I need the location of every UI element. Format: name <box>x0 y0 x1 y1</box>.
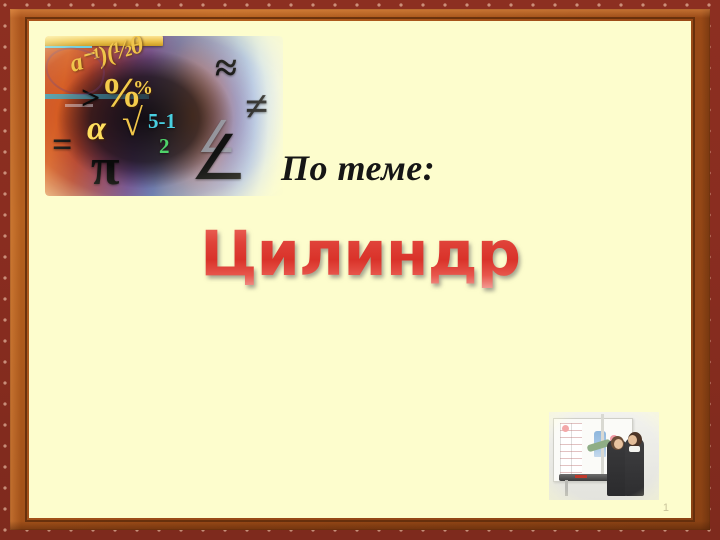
percent-small-icon: % <box>133 78 153 98</box>
student-front-face-shape <box>614 439 623 449</box>
angle-icon: ∠ <box>190 128 248 190</box>
slide-title: Цилиндр <box>29 217 691 290</box>
whiteboard-leg-left-shape <box>565 480 568 496</box>
collage-fraction-numerator: 5-1 <box>148 111 176 132</box>
math-collage-canvas: a⁻¹)(½θ > % % ≈ ≠ = α √ 5-1 2 π ∠ ∠ <box>45 36 283 196</box>
student-back-collar-shape <box>629 446 640 452</box>
whiteboard-red-dot-shape <box>562 425 569 432</box>
math-collage-image: a⁻¹)(½θ > % % ≈ ≠ = α √ 5-1 2 π ∠ ∠ <box>45 36 283 196</box>
square-root-icon: √ <box>122 104 143 142</box>
equals-icon: = <box>52 126 73 162</box>
page-number: 1 <box>663 502 669 514</box>
student-back-face-shape <box>628 435 637 445</box>
collage-fraction-denominator: 2 <box>159 136 170 157</box>
not-equal-icon: ≠ <box>245 86 268 128</box>
classroom-photo <box>541 404 667 508</box>
subject-label: По теме: <box>281 147 435 189</box>
approximately-equal-icon: ≈ <box>215 48 237 88</box>
pi-icon: π <box>91 142 120 194</box>
slide-canvas: a⁻¹)(½θ > % % ≈ ≠ = α √ 5-1 2 π ∠ ∠ По <box>0 0 720 540</box>
whiteboard-tray-marker-shape <box>575 475 587 478</box>
classroom-photo-canvas <box>549 412 659 500</box>
slide-content-area: a⁻¹)(½θ > % % ≈ ≠ = α √ 5-1 2 π ∠ ∠ По <box>29 21 691 518</box>
